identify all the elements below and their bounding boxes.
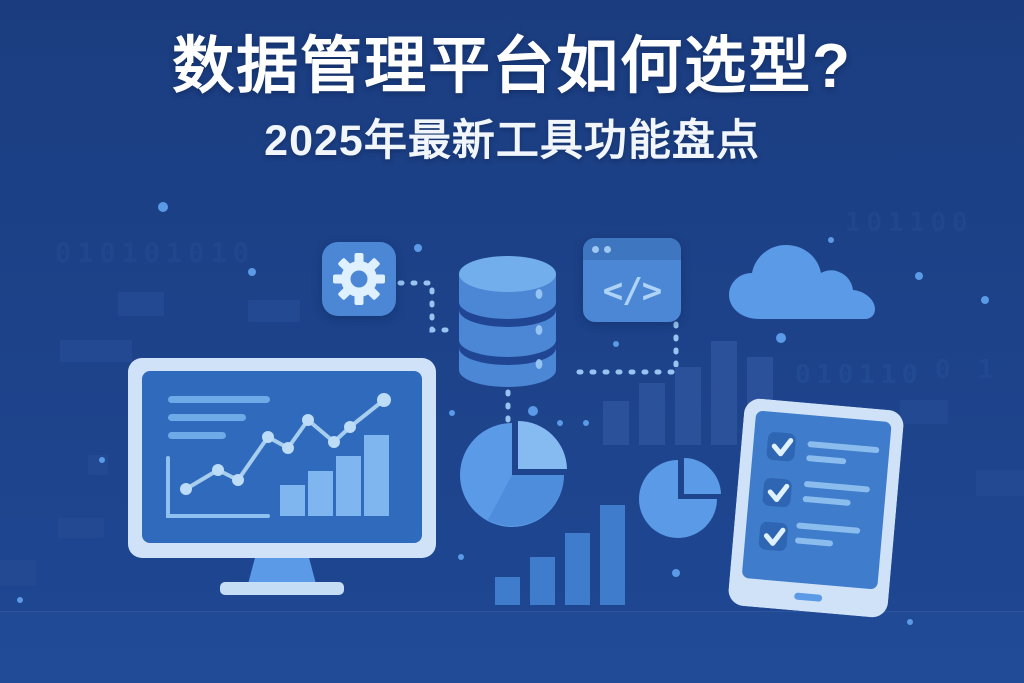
- cloud-icon: [726, 243, 878, 321]
- poster-canvas: 0101010101011000101100 1 数据管理平台如何选型? 202…: [0, 0, 1024, 683]
- checkbox[interactable]: [762, 477, 792, 507]
- page-subtitle: 2025年最新工具功能盘点: [0, 117, 1024, 166]
- checkbox[interactable]: [758, 521, 788, 551]
- pie-chart-small: [638, 455, 724, 541]
- page-title: 数据管理平台如何选型?: [0, 34, 1024, 99]
- checkbox[interactable]: [766, 432, 796, 462]
- database-icon: [455, 252, 560, 390]
- code-glyph: </>: [583, 260, 681, 322]
- window-dot-icon: [592, 246, 599, 253]
- tablet-checklist[interactable]: [727, 397, 905, 618]
- gear-icon: [322, 242, 396, 316]
- window-dot-icon: [604, 246, 611, 253]
- monitor[interactable]: [128, 358, 436, 610]
- code-window-icon[interactable]: </>: [583, 238, 681, 322]
- gear-tile[interactable]: [322, 242, 396, 316]
- headline-block: 数据管理平台如何选型? 2025年最新工具功能盘点: [0, 34, 1024, 167]
- bar-chart-foreground: [495, 505, 630, 605]
- code-window-titlebar: [583, 238, 681, 260]
